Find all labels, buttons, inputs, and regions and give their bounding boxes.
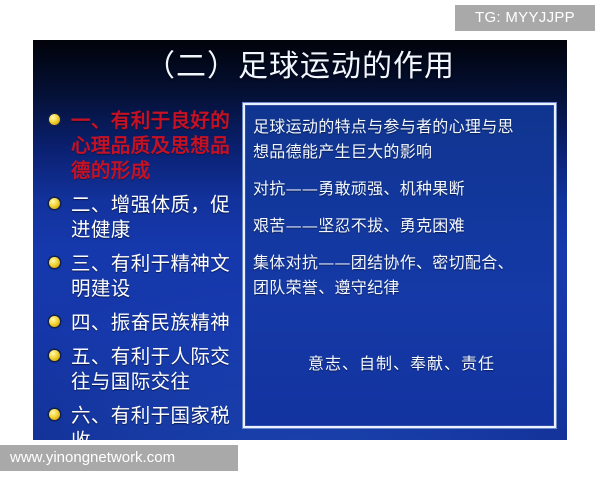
list-item-line: 六、有利于国家税 — [71, 403, 250, 428]
list-item-line: 心理品质及思想品 — [71, 133, 250, 158]
presentation-slide: （二）足球运动的作用 一、有利于良好的 心理品质及思想品 德的形成 二、增强体质… — [33, 40, 567, 440]
list-item: 五、有利于人际交 往与国际交往 — [45, 344, 250, 394]
list-item-line: 进健康 — [71, 217, 250, 242]
panel-line: 足球运动的特点与参与者的心理与思 — [253, 114, 544, 139]
bullet-dot-icon — [49, 350, 60, 361]
panel-paragraph: 艰苦——坚忍不拔、勇克困难 — [253, 213, 544, 238]
panel-line: 团队荣誉、遵守纪律 — [253, 275, 544, 300]
tg-watermark-tag: TG: MYYJJPP — [455, 5, 595, 31]
bullet-dot-icon — [49, 409, 60, 420]
bullet-dot-icon — [49, 316, 60, 327]
list-item-line: 三、有利于精神文 — [71, 251, 250, 276]
panel-paragraph: 足球运动的特点与参与者的心理与思 想品德能产生巨大的影响 — [253, 114, 544, 164]
panel-line: 对抗——勇敢顽强、机种果断 — [253, 176, 544, 201]
list-item-line: 往与国际交往 — [71, 369, 250, 394]
site-watermark-tag: www.yinongnetwork.com — [0, 445, 238, 471]
list-item-line: 收 — [71, 428, 250, 440]
list-item-line: 五、有利于人际交 — [71, 344, 250, 369]
list-item-line: 一、有利于良好的 — [71, 108, 250, 133]
bullet-dot-icon — [49, 198, 60, 209]
panel-paragraph: 对抗——勇敢顽强、机种果断 — [253, 176, 544, 201]
content-panel-body: 足球运动的特点与参与者的心理与思 想品德能产生巨大的影响 对抗——勇敢顽强、机种… — [245, 105, 554, 300]
panel-footer-line: 意志、自制、奉献、责任 — [245, 351, 558, 376]
list-item: 一、有利于良好的 心理品质及思想品 德的形成 — [45, 108, 250, 183]
panel-line: 想品德能产生巨大的影响 — [253, 139, 544, 164]
bullet-dot-icon — [49, 114, 60, 125]
list-item-line: 四、振奋民族精神 — [71, 310, 250, 335]
list-item: 二、增强体质，促 进健康 — [45, 192, 250, 242]
panel-line: 集体对抗——团结协作、密切配合、 — [253, 250, 544, 275]
list-item: 四、振奋民族精神 — [45, 310, 250, 335]
list-item: 三、有利于精神文 明建设 — [45, 251, 250, 301]
list-item: 六、有利于国家税 收 — [45, 403, 250, 440]
panel-line: 艰苦——坚忍不拔、勇克困难 — [253, 213, 544, 238]
list-item-line: 明建设 — [71, 276, 250, 301]
content-panel: 足球运动的特点与参与者的心理与思 想品德能产生巨大的影响 对抗——勇敢顽强、机种… — [243, 103, 556, 428]
panel-footer: 意志、自制、奉献、责任 — [245, 351, 558, 376]
bullet-list: 一、有利于良好的 心理品质及思想品 德的形成 二、增强体质，促 进健康 三、有利… — [45, 108, 250, 440]
slide-title: （二）足球运动的作用 — [33, 48, 567, 86]
list-item-line: 德的形成 — [71, 158, 250, 183]
panel-paragraph: 集体对抗——团结协作、密切配合、 团队荣誉、遵守纪律 — [253, 250, 544, 300]
bullet-dot-icon — [49, 257, 60, 268]
list-item-line: 二、增强体质，促 — [71, 192, 250, 217]
